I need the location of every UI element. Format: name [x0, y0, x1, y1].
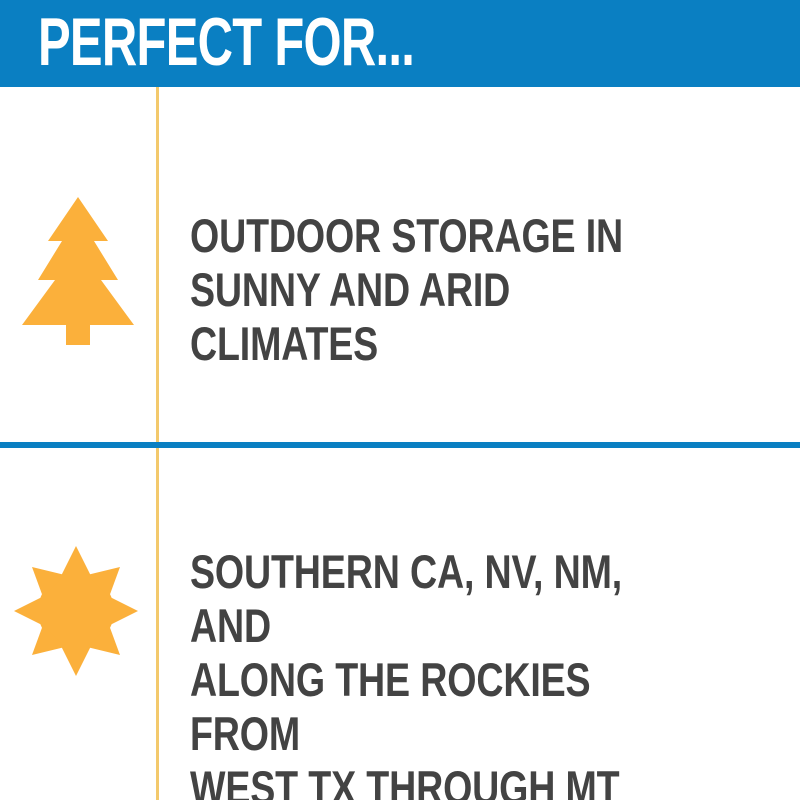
section-text-regions: SOUTHERN CA, NV, NM, AND ALONG THE ROCKI…: [190, 545, 678, 800]
infographic-page: PERFECT FOR... OUTDOOR STORAGE IN SUNNY …: [0, 0, 800, 800]
icon-cell-outdoor-storage: [0, 87, 156, 442]
header-bar: PERFECT FOR...: [0, 0, 800, 87]
text-cell-regions: SOUTHERN CA, NV, NM, AND ALONG THE ROCKI…: [159, 448, 800, 800]
icon-cell-regions: [0, 448, 156, 800]
tree-icon: [22, 197, 134, 345]
section-outdoor-storage: OUTDOOR STORAGE IN SUNNY AND ARID CLIMAT…: [0, 87, 800, 442]
section-regions: SOUTHERN CA, NV, NM, AND ALONG THE ROCKI…: [0, 448, 800, 800]
section-text-outdoor-storage: OUTDOOR STORAGE IN SUNNY AND ARID CLIMAT…: [190, 209, 678, 371]
sun-icon: [14, 546, 138, 676]
page-title: PERFECT FOR...: [38, 6, 414, 78]
text-cell-outdoor-storage: OUTDOOR STORAGE IN SUNNY AND ARID CLIMAT…: [159, 87, 800, 442]
